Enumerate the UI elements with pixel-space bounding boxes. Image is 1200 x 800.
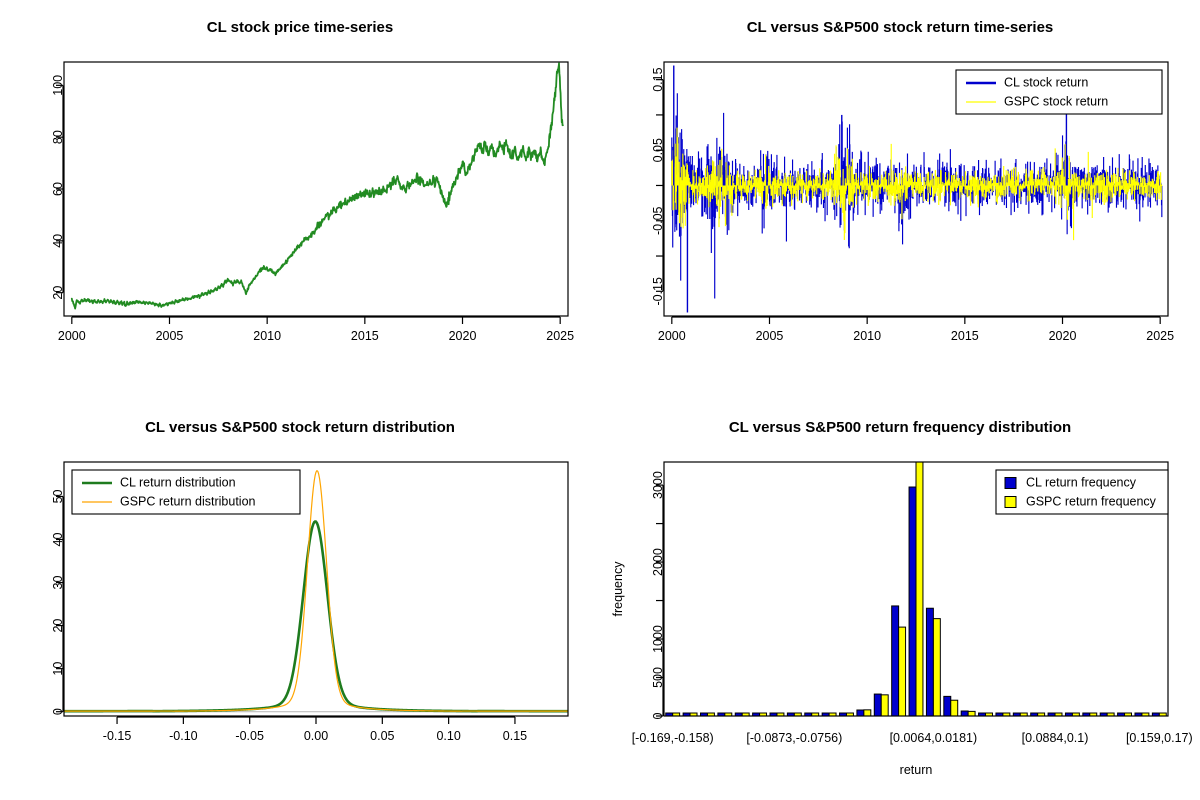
svg-text:-0.10: -0.10 (169, 729, 198, 743)
histogram-bar (961, 711, 968, 716)
svg-text:0.05: 0.05 (651, 138, 665, 162)
svg-text:2000: 2000 (58, 329, 86, 343)
svg-text:2010: 2010 (253, 329, 281, 343)
svg-text:2020: 2020 (1049, 329, 1077, 343)
svg-text:0.15: 0.15 (503, 729, 527, 743)
plot-box-cl-price (64, 62, 568, 316)
panel-title-return-timeseries: CL versus S&P500 stock return time-serie… (747, 19, 1054, 36)
svg-text:10: 10 (51, 662, 65, 676)
panel-title-return-distribution: CL versus S&P500 stock return distributi… (145, 419, 455, 436)
svg-text:2020: 2020 (449, 329, 477, 343)
svg-text:40: 40 (51, 234, 65, 248)
svg-text:[0.159,0.17): [0.159,0.17) (1126, 731, 1193, 745)
histogram-bar (899, 627, 906, 716)
svg-text:GSPC return distribution: GSPC return distribution (120, 494, 256, 508)
svg-text:2025: 2025 (546, 329, 574, 343)
svg-text:60: 60 (51, 182, 65, 196)
svg-text:CL stock return: CL stock return (1004, 75, 1088, 89)
legend-return-timeseries[interactable]: CL stock returnGSPC stock return (956, 70, 1162, 114)
svg-text:40: 40 (51, 532, 65, 546)
svg-text:-0.15: -0.15 (651, 277, 665, 306)
svg-text:[-0.169,-0.158): [-0.169,-0.158) (632, 731, 714, 745)
svg-text:CL return distribution: CL return distribution (120, 475, 236, 489)
histogram-bar (892, 606, 899, 716)
svg-text:30: 30 (51, 576, 65, 590)
axes-return-distribution: 01020304050-0.15-0.10-0.050.000.050.100.… (51, 489, 527, 743)
svg-text:100: 100 (51, 75, 65, 96)
svg-text:GSPC return frequency: GSPC return frequency (1026, 494, 1157, 508)
svg-text:2015: 2015 (951, 329, 979, 343)
svg-text:-0.05: -0.05 (235, 729, 264, 743)
svg-text:500: 500 (651, 667, 665, 688)
svg-text:0.00: 0.00 (304, 729, 328, 743)
panel-return-timeseries: CL versus S&P500 stock return time-serie… (600, 0, 1200, 400)
histogram-bar (926, 608, 933, 716)
panel-title-return-frequency: CL versus S&P500 return frequency distri… (729, 419, 1071, 436)
histogram-bar (909, 487, 916, 716)
svg-text:0.05: 0.05 (370, 729, 394, 743)
svg-text:CL return frequency: CL return frequency (1026, 475, 1137, 489)
panel-return-distribution: CL versus S&P500 stock return distributi… (0, 400, 600, 800)
histogram-bar (951, 700, 958, 716)
axis-label-frequency: frequency (611, 561, 625, 617)
svg-text:[0.0884,0.1): [0.0884,0.1) (1022, 731, 1089, 745)
svg-text:2000: 2000 (658, 329, 686, 343)
histogram-bar (857, 710, 864, 716)
panel-return-frequency: CL versus S&P500 return frequency distri… (600, 400, 1200, 800)
svg-text:[0.0064,0.0181): [0.0064,0.0181) (890, 731, 978, 745)
svg-text:50: 50 (51, 489, 65, 503)
svg-text:-0.05: -0.05 (651, 206, 665, 235)
svg-text:3000: 3000 (651, 471, 665, 499)
histogram-bar (933, 619, 940, 716)
svg-text:20: 20 (51, 286, 65, 300)
legend-return-distribution[interactable]: CL return distributionGSPC return distri… (72, 470, 300, 514)
histogram-bar (864, 710, 871, 716)
svg-text:0.10: 0.10 (436, 729, 460, 743)
svg-text:-0.15: -0.15 (103, 729, 132, 743)
svg-text:1000: 1000 (651, 625, 665, 653)
svg-text:2005: 2005 (756, 329, 784, 343)
legend-return-frequency[interactable]: CL return frequencyGSPC return frequency (996, 470, 1168, 514)
panel-cl-price-timeseries: CL stock price time-series 2040608010020… (0, 0, 600, 400)
svg-text:0.15: 0.15 (651, 67, 665, 91)
axis-label-return: return (900, 763, 933, 777)
svg-text:80: 80 (51, 130, 65, 144)
histogram-bar (968, 711, 975, 716)
svg-text:[-0.0873,-0.0756): [-0.0873,-0.0756) (746, 731, 842, 745)
svg-text:2005: 2005 (156, 329, 184, 343)
svg-text:2015: 2015 (351, 329, 379, 343)
histogram-bar (916, 462, 923, 716)
figure-grid: CL stock price time-series 2040608010020… (0, 0, 1200, 800)
svg-text:20: 20 (51, 619, 65, 633)
panel-title-cl-price: CL stock price time-series (207, 19, 393, 36)
svg-text:GSPC stock return: GSPC stock return (1004, 94, 1108, 108)
svg-text:2000: 2000 (651, 548, 665, 576)
series-cl-price (72, 63, 563, 308)
svg-text:0: 0 (651, 712, 665, 719)
svg-text:0: 0 (51, 708, 65, 715)
histogram-bar (944, 696, 951, 716)
histogram-bar (874, 694, 881, 716)
svg-text:2010: 2010 (853, 329, 881, 343)
histogram-bar (881, 695, 888, 716)
svg-text:2025: 2025 (1146, 329, 1174, 343)
